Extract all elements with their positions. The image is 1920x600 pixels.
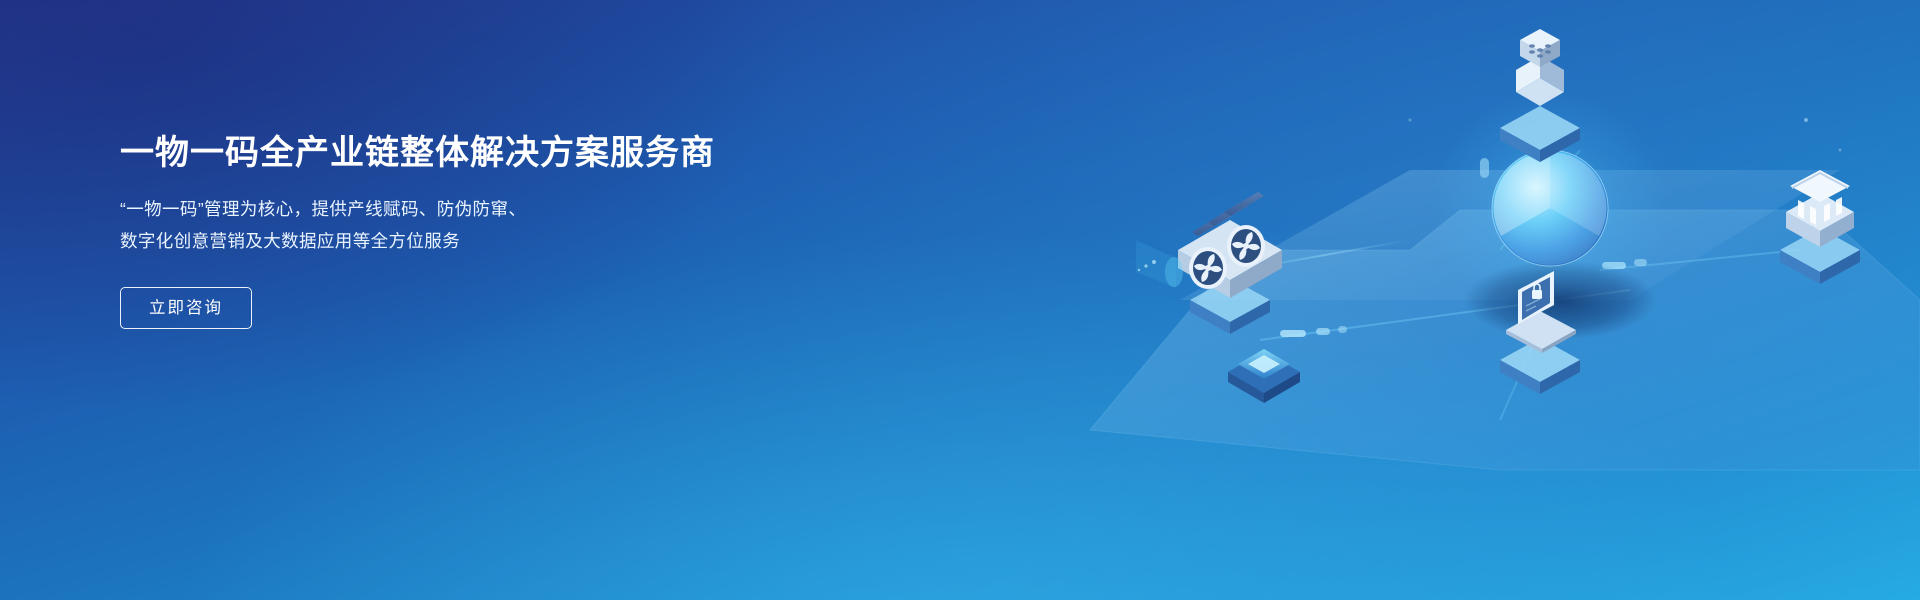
pedestal-laptop	[1500, 338, 1580, 394]
page-title: 一物一码全产业链整体解决方案服务商	[120, 132, 820, 175]
data-pad-icon	[1228, 349, 1300, 403]
sphere-glow	[1432, 90, 1668, 326]
pos-terminal-icon	[1516, 29, 1564, 106]
hero-illustration	[940, 0, 1920, 600]
ambient-dots	[1408, 118, 1841, 152]
pedestal-pos	[1500, 106, 1580, 162]
lock-glyph	[1532, 284, 1542, 299]
node-bank-building	[1780, 170, 1860, 284]
bank-building-icon	[1786, 170, 1854, 247]
node-server-rack	[1136, 192, 1282, 334]
pedestal-bank	[1780, 228, 1860, 284]
platform-layer	[1090, 170, 1920, 470]
scan-cone	[1136, 240, 1183, 288]
hero-banner: 一物一码全产业链整体解决方案服务商 “一物一码”管理为核心，提供产线赋码、防伪防…	[0, 0, 1920, 600]
beam-dots	[1280, 158, 1647, 337]
hero-copy: 一物一码全产业链整体解决方案服务商 “一物一码”管理为核心，提供产线赋码、防伪防…	[120, 132, 820, 329]
sphere-shadow	[1464, 260, 1656, 340]
consult-now-button[interactable]: 立即咨询	[120, 287, 252, 330]
laptop-lock-icon	[1506, 271, 1576, 353]
server-fan-rack-icon	[1136, 192, 1282, 298]
subtitle-line-2: 数字化创意营销及大数据应用等全方位服务	[120, 225, 820, 257]
connection-beams	[1240, 150, 1800, 420]
hero-subtitle: “一物一码”管理为核心，提供产线赋码、防伪防窜、 数字化创意营销及大数据应用等全…	[120, 193, 820, 257]
node-laptop	[1500, 271, 1580, 394]
fan-right	[1227, 225, 1265, 267]
data-sphere-icon	[1492, 150, 1608, 266]
subtitle-line-1: “一物一码”管理为核心，提供产线赋码、防伪防窜、	[120, 193, 820, 225]
pedestal-server	[1190, 278, 1270, 334]
node-pos-terminal	[1500, 29, 1580, 162]
fan-left	[1189, 247, 1227, 289]
